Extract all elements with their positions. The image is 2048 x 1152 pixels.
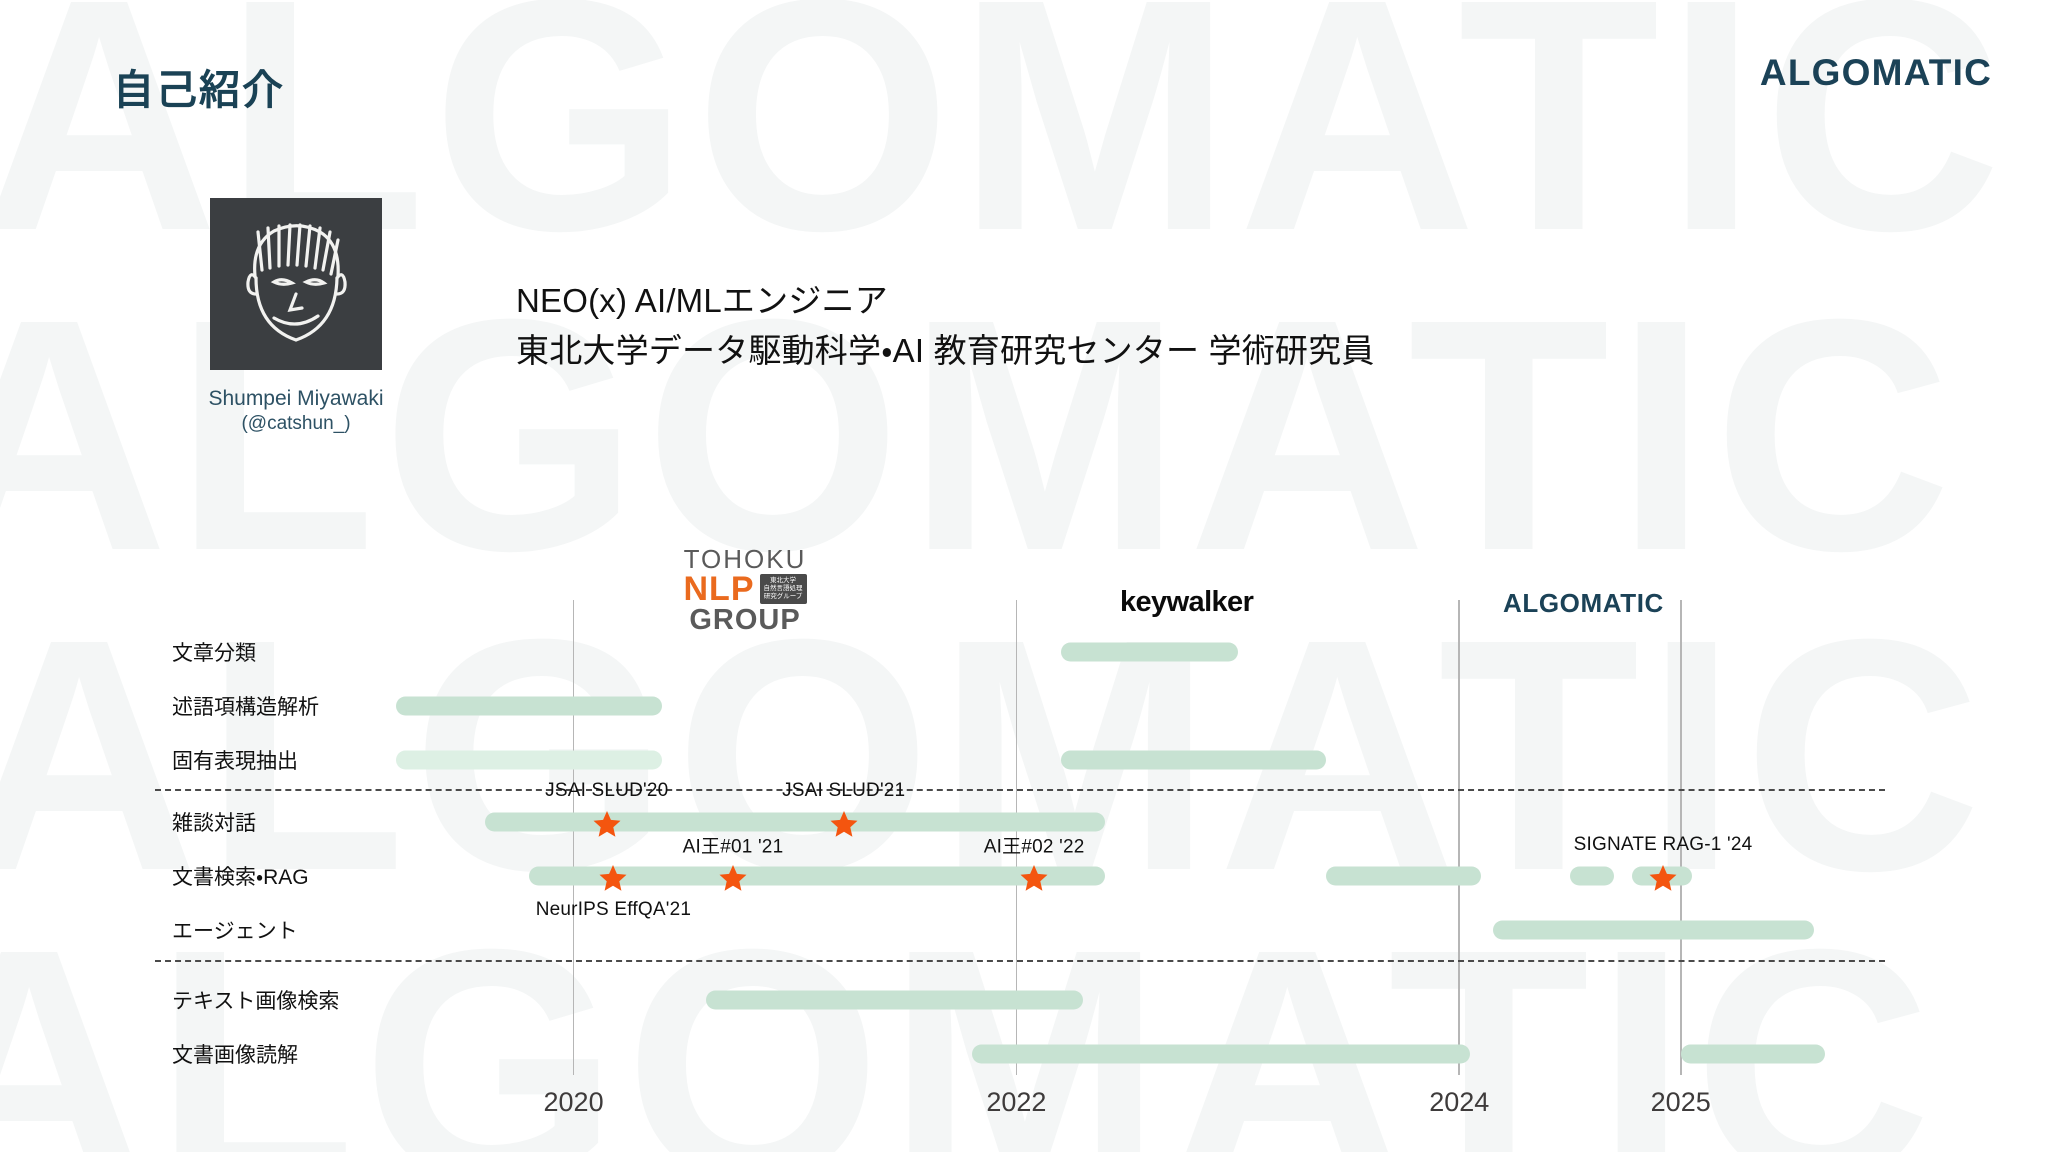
row-label-1-1: 文章分類 [172,637,256,667]
milestone-star-icon [598,864,628,893]
timeline-bar [1061,751,1327,770]
slide-root: ALGOMATIC ALGOMATIC ALGOMATIC ALGOMATIC … [0,0,2048,1152]
year-tick-2022: 2022 [986,1087,1046,1118]
timeline-bar [706,991,1082,1010]
profile-headline: NEO(x) AI/MLエンジニア 東北大学データ駆動科学・AI 教育研究センタ… [516,276,1375,376]
algomatic-logo: ALGOMATIC [1760,52,1992,94]
gridline-2024 [1458,600,1460,1075]
timeline-bar [485,813,1105,832]
milestone-star-icon [1648,864,1678,893]
row-label-3-2: 文書画像読解 [172,1039,298,1069]
year-tick-2025: 2025 [1651,1087,1711,1118]
timeline-bar [1681,1045,1825,1064]
year-tick-2020: 2020 [544,1087,604,1118]
keywalker-logo: keywalker [1120,586,1253,619]
milestone-label: NeurIPS EffQA'21 [536,899,691,921]
timeline-bar [1326,867,1481,886]
timeline-bar [396,697,662,716]
profile-handle: (@catshun_) [180,412,412,437]
algomatic-timeline-logo: ALGOMATIC [1503,588,1664,619]
timeline-bar [972,1045,1470,1064]
tohoku-logo-line2: NLP [684,572,755,606]
milestone-label: AI王#01 '21 [683,832,784,859]
tohoku-logo-badge: 東北大学自然言語処理研究グループ [760,574,807,604]
gridline-2020 [573,600,575,1075]
tohoku-nlp-group-logo: TOHOKU NLP東北大学自然言語処理研究グループ GROUP [660,546,830,635]
milestone-star-icon [592,810,622,839]
timeline-bar [1493,921,1814,940]
timeline-bar [1061,643,1238,662]
row-label-2-3: エージェント [172,915,298,945]
milestone-label: SIGNATE RAG-1 '24 [1574,834,1753,856]
year-tick-2024: 2024 [1429,1087,1489,1118]
page-title: 自己紹介 [113,56,285,116]
row-label-3-1: テキスト画像検索 [172,985,339,1015]
group-divider-1 [155,789,1885,791]
row-label-1-3: 固有表現抽出 [172,745,298,775]
milestone-star-icon [829,810,859,839]
timeline-bar [396,751,662,770]
milestone-label: JSAI SLUD'21 [782,780,905,802]
avatar [210,198,382,370]
milestone-star-icon [1019,864,1049,893]
timeline-bar [1570,867,1614,886]
row-label-1-2: 述語項構造解析 [172,691,319,721]
row-label-2-2: 文書検索・RAG [172,861,309,891]
milestone-star-icon [718,864,748,893]
milestone-label: AI王#02 '22 [984,832,1085,859]
milestone-label: JSAI SLUD'20 [545,780,668,802]
group-divider-2 [155,960,1885,962]
tohoku-logo-line3: GROUP [660,606,830,635]
profile-block: Shumpei Miyawaki (@catshun_) [180,198,412,437]
timeline-chart: 2020202220242025文章分類述語項構造解析固有表現抽出雑談対話文書検… [0,0,2048,1152]
row-label-2-1: 雑談対話 [172,807,256,837]
profile-name: Shumpei Miyawaki [180,386,412,412]
tohoku-logo-line1: TOHOKU [660,546,830,572]
